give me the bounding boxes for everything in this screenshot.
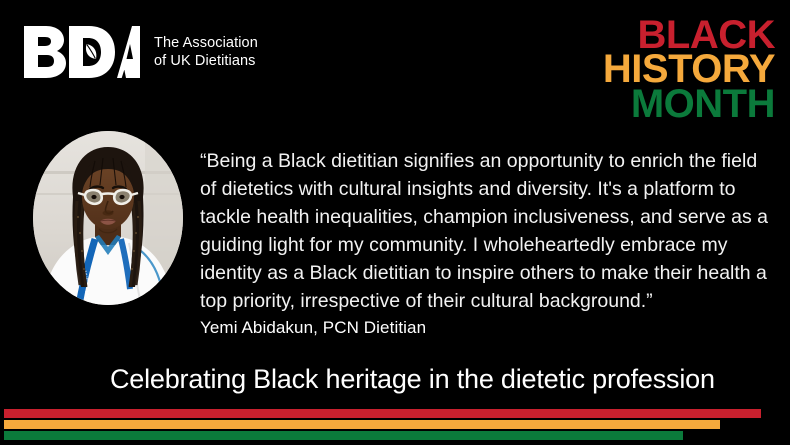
- black-history-month-poster: The Association of UK Dietitians BLACK H…: [0, 0, 790, 445]
- quote-text: “Being a Black dietitian signifies an op…: [200, 147, 775, 315]
- portrait-avatar: NHS NHS: [33, 131, 183, 305]
- red-bar: [4, 409, 761, 418]
- association-subtitle: The Association of UK Dietitians: [154, 32, 258, 70]
- bda-wordmark-logo: [22, 24, 140, 78]
- quote-attribution: Yemi Abidakun, PCN Dietitian: [200, 318, 426, 338]
- bda-logo: The Association of UK Dietitians: [22, 24, 258, 78]
- tagline: Celebrating Black heritage in the dietet…: [110, 364, 715, 395]
- green-bar: [4, 431, 683, 440]
- headline-month: MONTH: [603, 87, 775, 121]
- black-history-month-headline: BLACK HISTORY MONTH: [603, 18, 775, 121]
- yellow-bar: [4, 420, 720, 429]
